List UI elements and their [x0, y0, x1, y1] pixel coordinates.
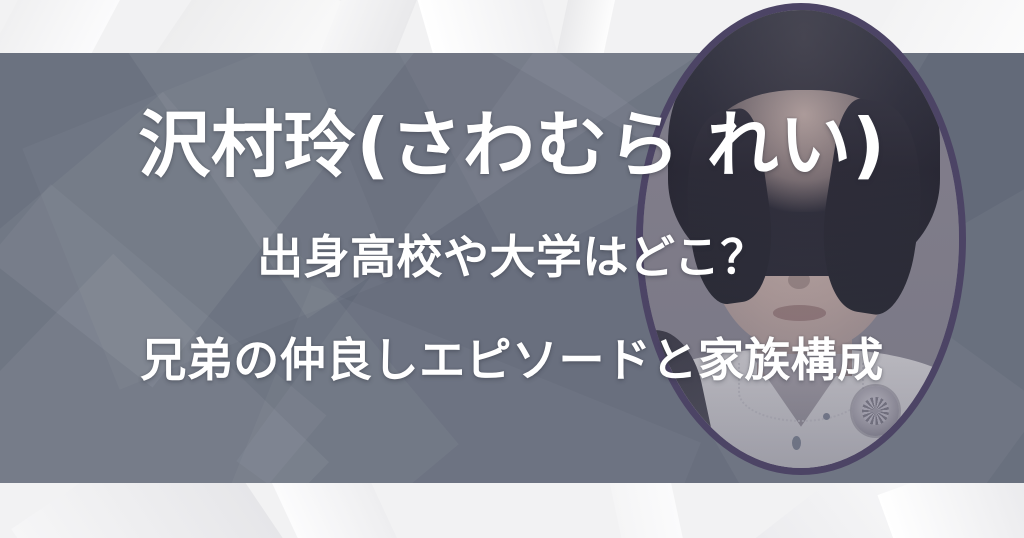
band-streak	[0, 0, 120, 53]
band-streak	[877, 483, 1024, 538]
band-streak	[403, 0, 576, 53]
band-streak	[11, 483, 288, 538]
eyecatch-banner: 沢村玲(さわむら れい) 出身高校や大学はどこ？ 兄弟の仲良しエピソードと家族構…	[0, 0, 1024, 538]
page-title: 沢村玲(さわむら れい)	[0, 108, 1024, 184]
headline-group: 沢村玲(さわむら れい) 出身高校や大学はどこ？ 兄弟の仲良しエピソードと家族構…	[0, 53, 1024, 483]
band-streak	[266, 483, 424, 538]
subtitle-one: 出身高校や大学はどこ？	[0, 232, 1024, 283]
bottom-decorative-band	[0, 483, 1024, 538]
band-streak	[601, 483, 699, 538]
subtitle-two: 兄弟の仲良しエピソードと家族構成	[0, 335, 1024, 386]
